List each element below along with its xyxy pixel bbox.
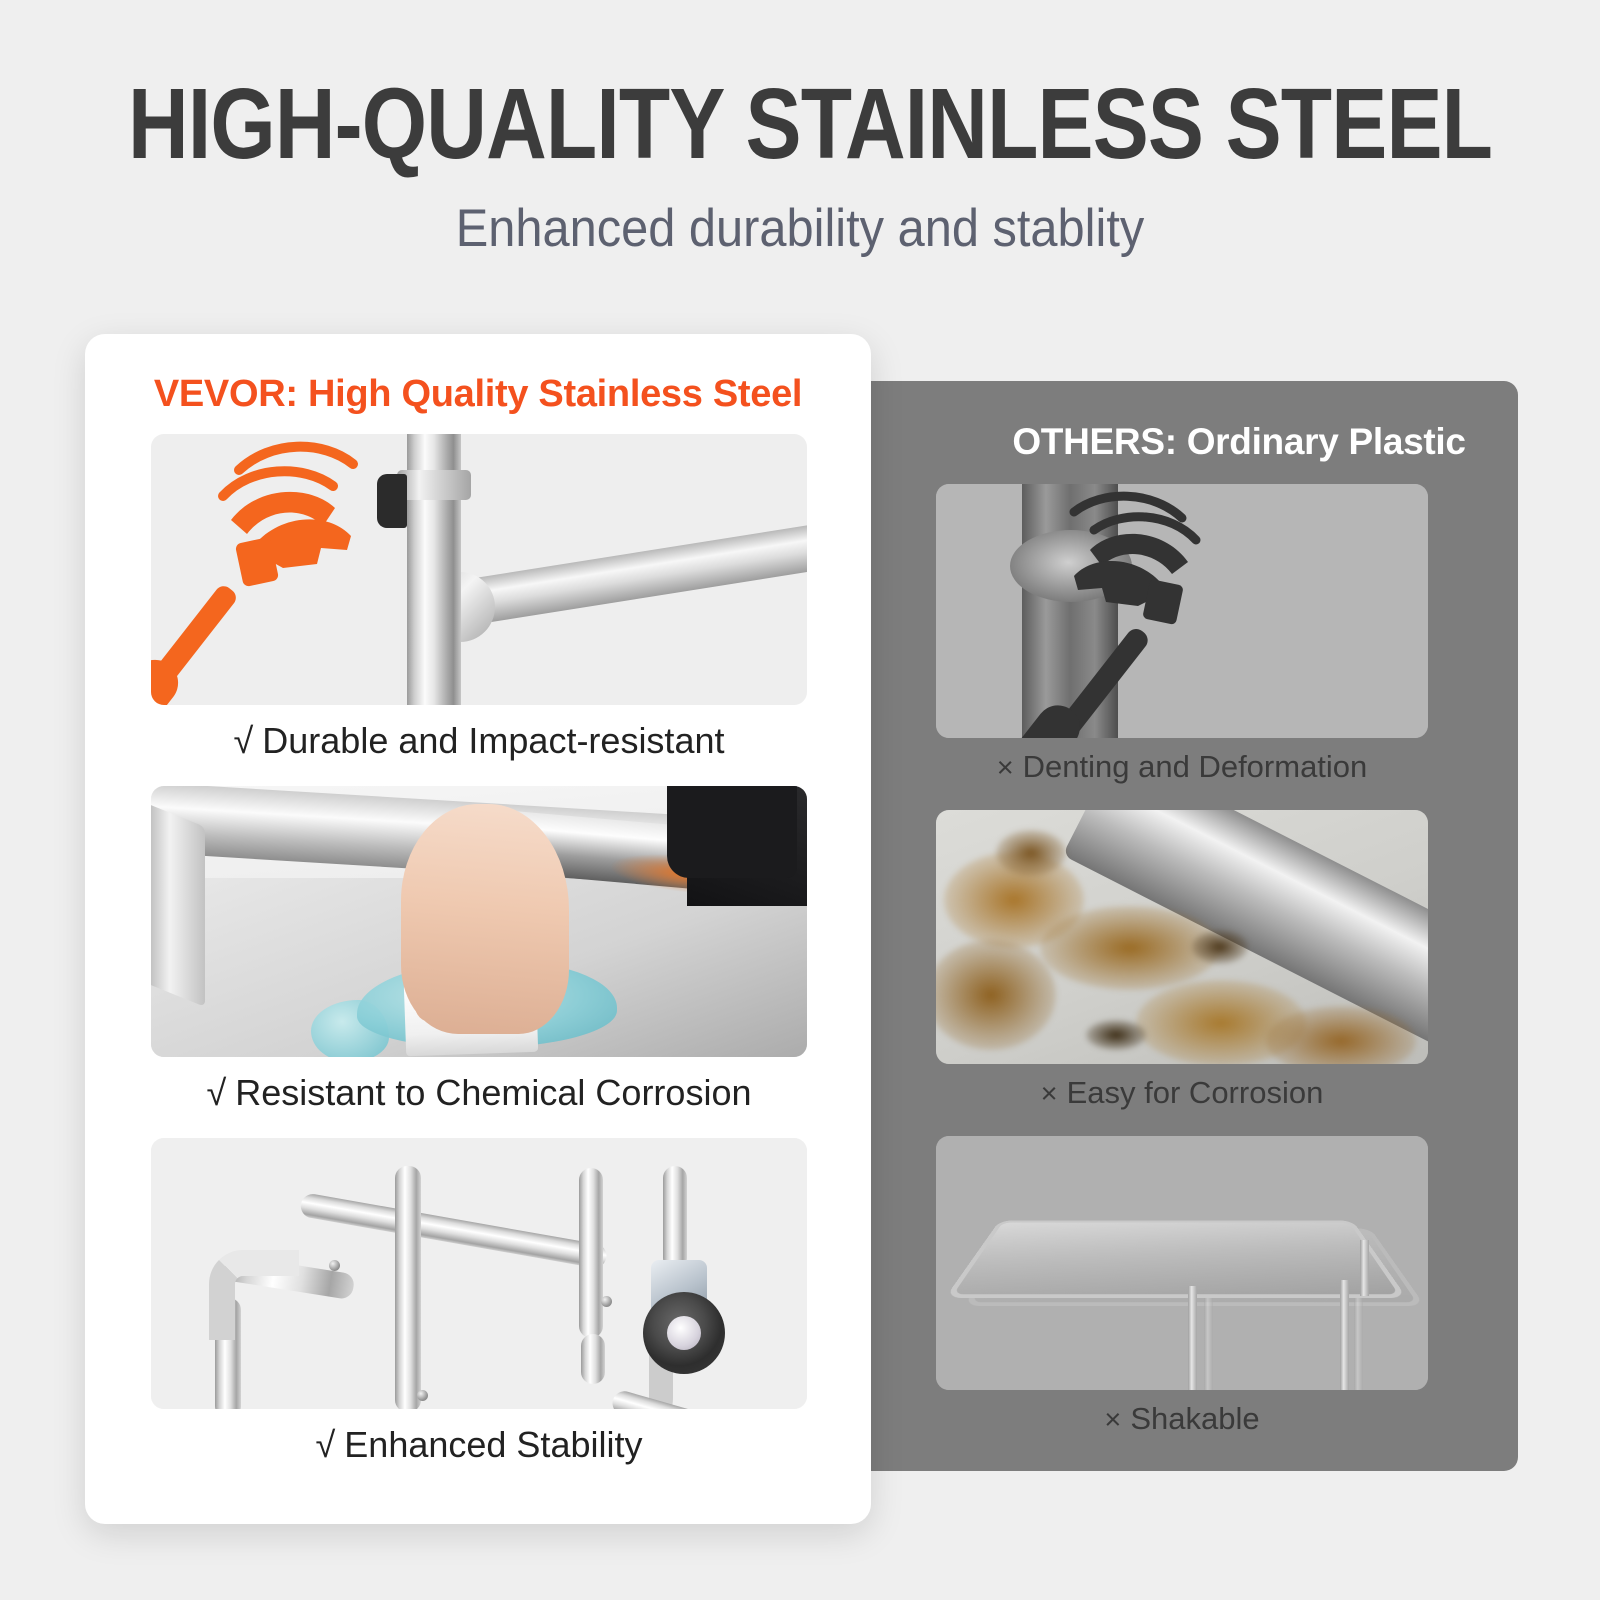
vevor-stability-caption: √Enhanced Stability (151, 1409, 807, 1481)
vevor-panel-title: VEVOR: High Quality Stainless Steel (85, 373, 871, 416)
others-panel-title: OTHERS: Ordinary Plastic (850, 421, 1518, 463)
header: HIGH-QUALITY STAINLESS STEEL Enhanced du… (0, 0, 1600, 255)
vevor-item-chemical: √Resistant to Chemical Corrosion (151, 786, 807, 1129)
others-denting-caption: ×Denting and Deformation (936, 738, 1428, 796)
cross-icon: × (1041, 1078, 1058, 1110)
others-item-shakable: ×Shakable (936, 1136, 1428, 1448)
vevor-item-stability: √Enhanced Stability (151, 1138, 807, 1481)
check-icon: √ (234, 720, 254, 761)
others-item-corrosion: ×Easy for Corrosion (936, 810, 1428, 1122)
cross-icon: × (997, 752, 1014, 784)
vevor-durable-image (151, 434, 807, 705)
others-shakable-caption: ×Shakable (936, 1390, 1428, 1448)
check-icon: √ (316, 1424, 336, 1465)
vevor-durable-caption: √Durable and Impact-resistant (151, 705, 807, 777)
hammer-icon (936, 484, 1428, 738)
others-corrosion-image (936, 810, 1428, 1064)
page-title: HIGH-QUALITY STAINLESS STEEL (128, 0, 1472, 174)
others-corrosion-caption: ×Easy for Corrosion (936, 1064, 1428, 1122)
vevor-chemical-caption: √Resistant to Chemical Corrosion (151, 1057, 807, 1129)
others-denting-image (936, 484, 1428, 738)
others-item-denting: ×Denting and Deformation (936, 484, 1428, 796)
check-icon: √ (207, 1072, 227, 1113)
others-item-list: ×Denting and Deformation (936, 484, 1428, 1462)
vevor-stability-image (151, 1138, 807, 1409)
vevor-item-durable: √Durable and Impact-resistant (151, 434, 807, 777)
others-shakable-image (936, 1136, 1428, 1390)
others-comparison-panel: OTHERS: Ordinary Plastic (850, 381, 1518, 1471)
vevor-item-list: √Durable and Impact-resistant (151, 434, 807, 1490)
cross-icon: × (1104, 1404, 1121, 1436)
hammer-icon (151, 434, 807, 705)
vevor-comparison-card: VEVOR: High Quality Stainless Steel (85, 334, 871, 1524)
vevor-chemical-image (151, 786, 807, 1057)
page-subtitle: Enhanced durability and stablity (64, 174, 1536, 255)
